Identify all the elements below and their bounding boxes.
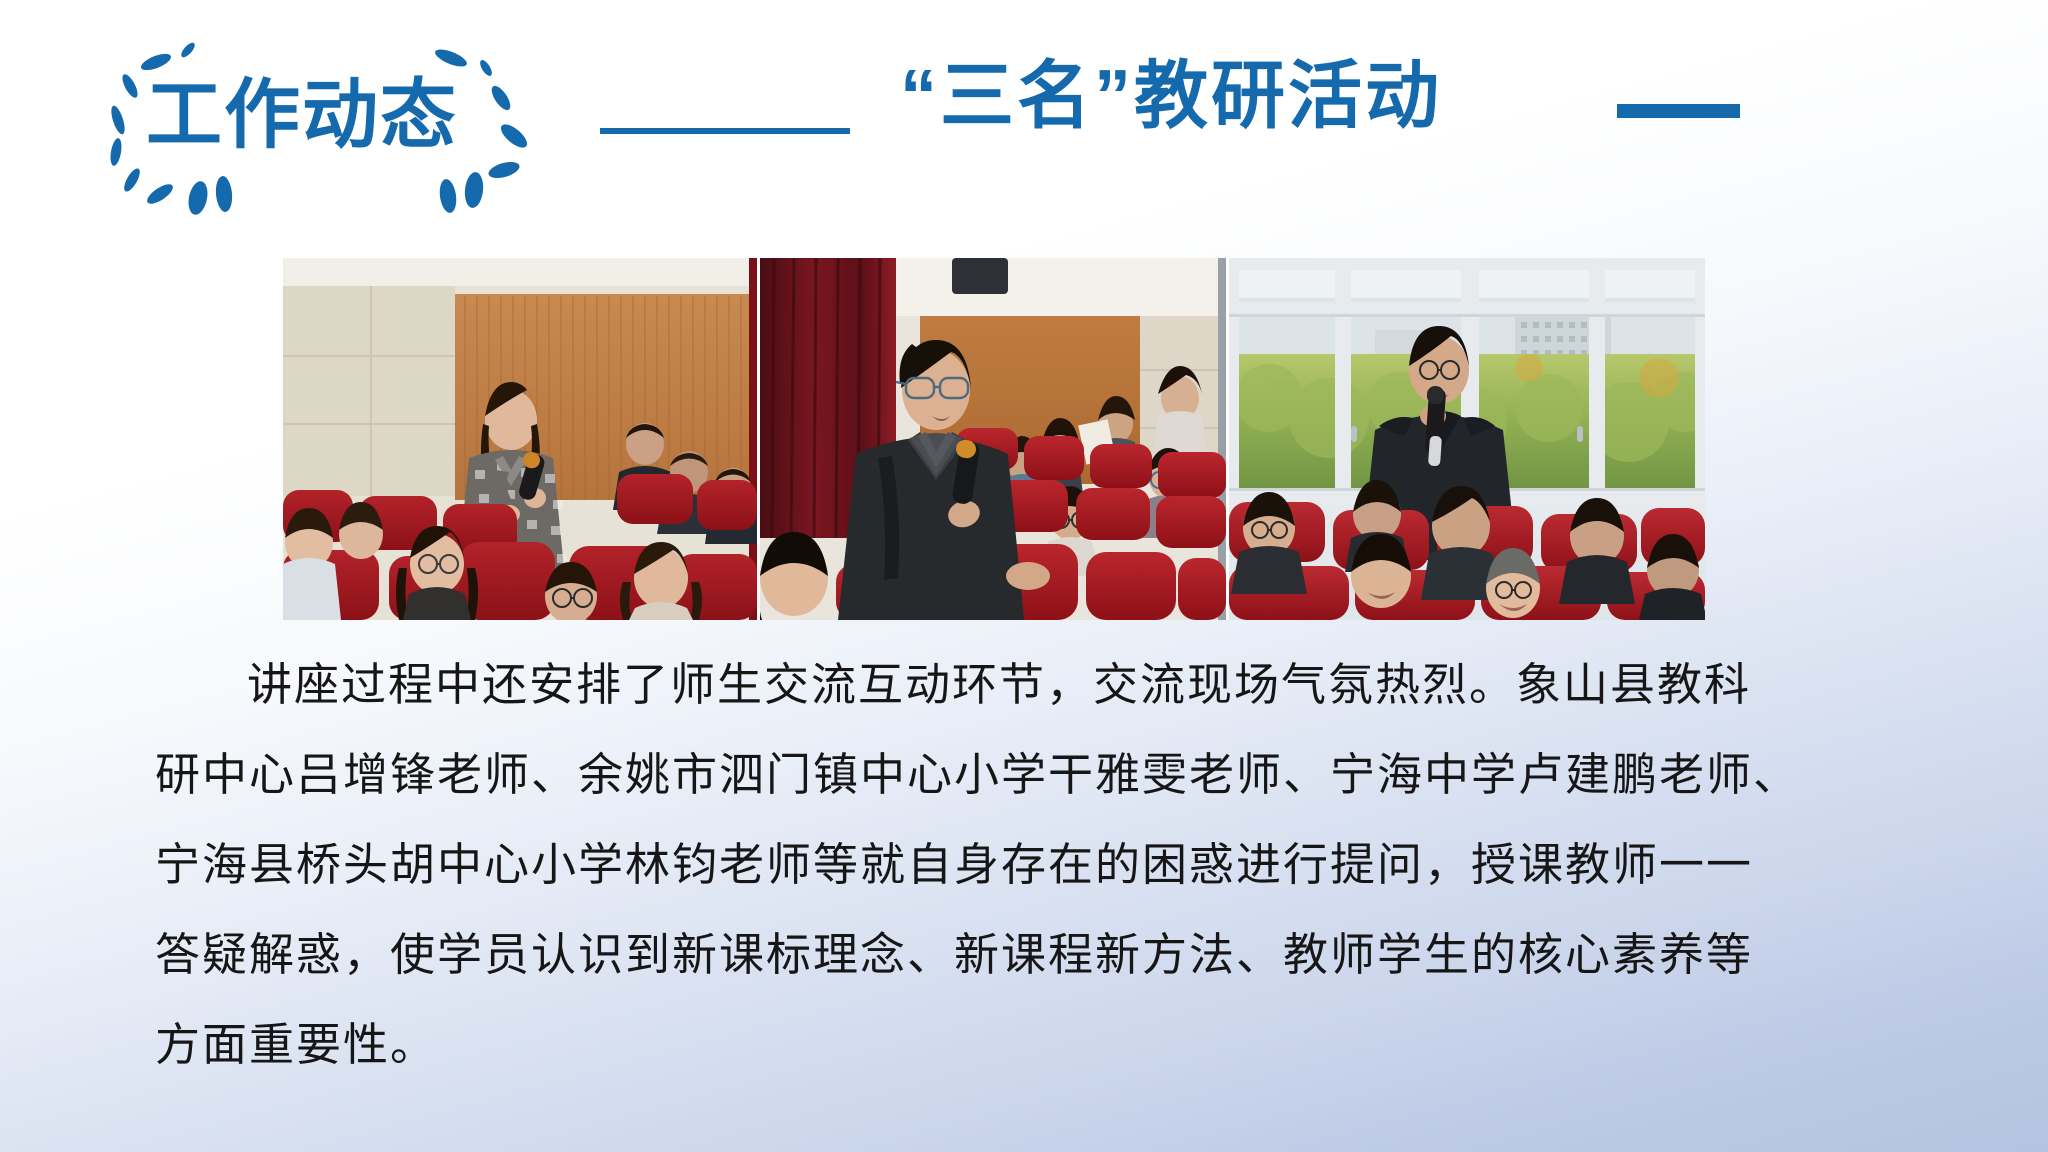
photo-collage	[283, 258, 1705, 620]
title-block: 工作动态	[96, 28, 676, 203]
body-line-4: 答疑解惑，使学员认识到新课标理念、新课程新方法、教师学生的核心素养等	[155, 910, 1915, 1000]
body-line-1: 讲座过程中还安排了师生交流互动环节，交流现场气氛热烈。象山县教科	[155, 640, 1915, 730]
page-subtitle: “三名”教研活动	[900, 52, 1442, 140]
title-connector-line	[600, 128, 850, 134]
body-paragraph: 讲座过程中还安排了师生交流互动环节，交流现场气氛热烈。象山县教科 研中心吕增锋老…	[155, 640, 1915, 1090]
subtitle-trailing-dash-icon	[1617, 104, 1740, 118]
page-title: 工作动态	[146, 76, 458, 156]
photo-man-standing-by-window	[1229, 258, 1705, 620]
photo-man-with-microphone	[760, 258, 1226, 620]
slide-header: 工作动态 “三名”教研活动	[0, 0, 2048, 230]
body-line-3: 宁海县桥头胡中心小学林钧老师等就自身存在的困惑进行提问，授课教师一一	[155, 820, 1915, 910]
body-line-2: 研中心吕增锋老师、余姚市泗门镇中心小学干雅雯老师、宁海中学卢建鹏老师、	[155, 730, 1915, 820]
body-line-5: 方面重要性。	[155, 1000, 1915, 1090]
photo-woman-with-microphone	[283, 258, 757, 620]
